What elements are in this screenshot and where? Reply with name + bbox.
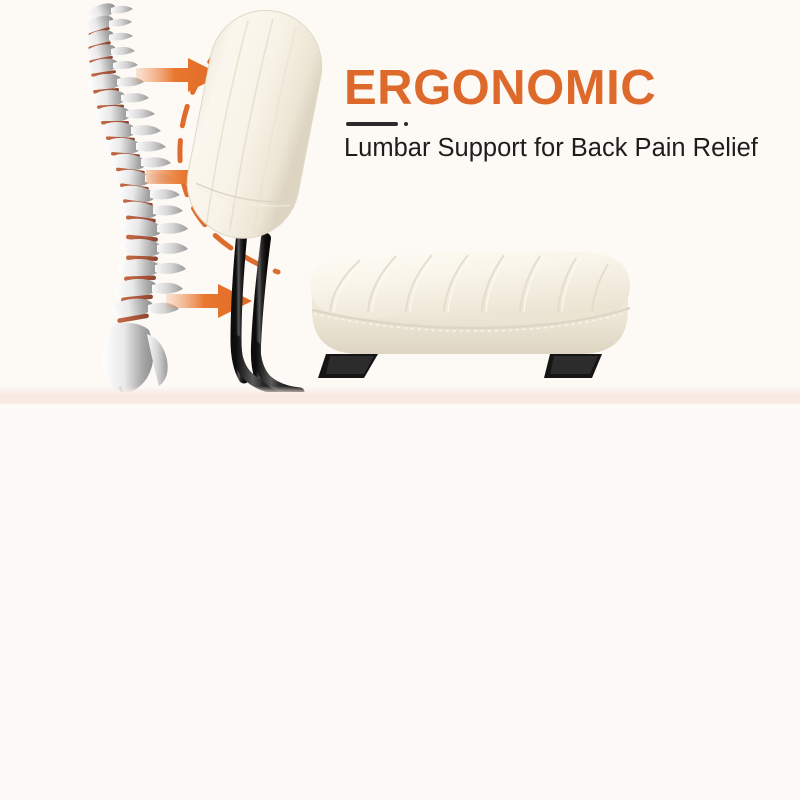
vertical-stripe-panel: VERTICAL STRIPE DESIGN Simple and Beauti…: [0, 404, 800, 800]
ergonomic-headline: ERGONOMIC: [344, 64, 656, 114]
divider-bar: [346, 122, 398, 126]
divider-dot: [404, 122, 408, 126]
ergonomic-panel: ERGONOMIC Lumbar Support for Back Pain R…: [0, 0, 800, 392]
ergonomic-subtitle: Lumbar Support for Back Pain Relief: [344, 134, 758, 163]
product-infographic: ERGONOMIC Lumbar Support for Back Pain R…: [0, 0, 800, 800]
dash-dot-divider-icon: [346, 122, 408, 126]
